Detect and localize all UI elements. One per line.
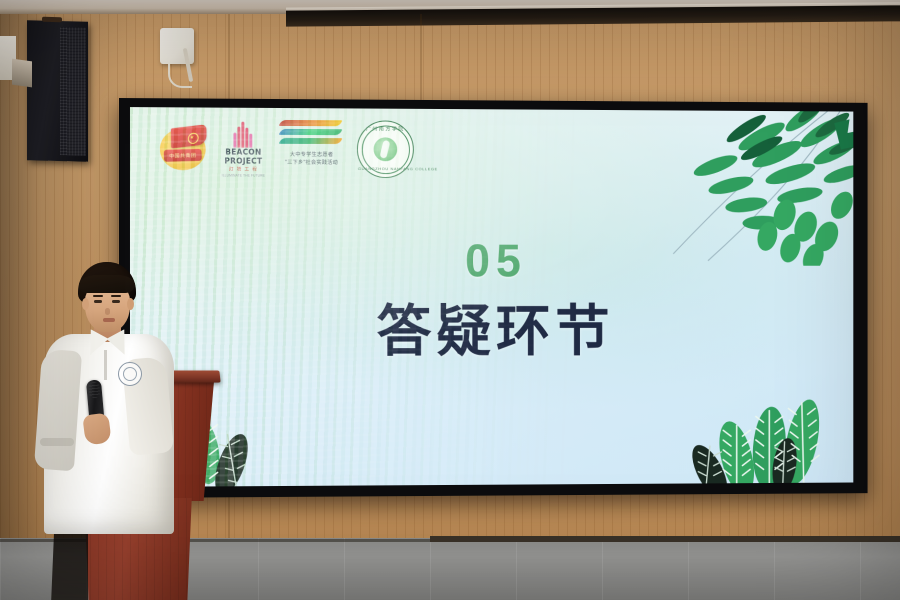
presenter-ear-left [82, 298, 89, 310]
presenter-fringe [79, 275, 135, 293]
cyl-star-icon [188, 132, 199, 144]
slide-section-number: 05 [130, 233, 853, 287]
presenter-eye-right [112, 300, 120, 303]
presenter-eyebrow-right [111, 295, 121, 297]
wall-seam [420, 14, 422, 100]
presenter-nose [105, 308, 110, 315]
seal-top-text: 广州南方学院 [358, 125, 413, 132]
presenter-eyebrow-left [93, 295, 103, 297]
presenter-mouth [103, 318, 115, 322]
baseboard [430, 536, 900, 542]
student-presenter [30, 262, 180, 600]
speaker-mount-top [42, 17, 62, 23]
speaker-bracket [12, 59, 32, 88]
beacon-title-2: PROJECT [224, 157, 262, 165]
presenter-eye-left [94, 300, 102, 303]
beacon-title: BEACON [225, 149, 261, 157]
presenter-ear-right [127, 298, 134, 310]
ribbon-icon [280, 120, 343, 150]
beacon-subtitle-cn: 灯 塔 工 程 [229, 166, 258, 172]
cyl-banner-text: 中国共青团 [169, 151, 197, 159]
university-seal-logo: 广州南方学院 GUANGZHOU NANFANG COLLEGE [357, 120, 414, 178]
projection-screen-frame: 中国共青团 BEACON PROJECT 灯 塔 工 程 ILLUMINATE … [119, 98, 868, 498]
seal-bottom-text: GUANGZHOU NANFANG COLLEGE [358, 166, 413, 171]
projection-screen: 中国共青团 BEACON PROJECT 灯 塔 工 程 ILLUMINATE … [130, 107, 853, 487]
cyl-banner: 中国共青团 [164, 149, 202, 162]
leaf-cluster-bottom-right [681, 381, 844, 487]
slide-section-title: 答疑环节 [130, 287, 853, 368]
lecture-hall-photo: 中国共青团 BEACON PROJECT 灯 塔 工 程 ILLUMINATE … [0, 0, 900, 600]
sanxiaxiang-ribbon-logo: 大中专学生志愿者 "三下乡"社会实践活动 [277, 120, 346, 178]
polo-placket [104, 350, 107, 380]
beacon-project-logo: BEACON PROJECT 灯 塔 工 程 ILLUMINATE THE FU… [221, 120, 267, 178]
seal-center-emblem [374, 137, 398, 161]
circular-school-crest [118, 362, 142, 386]
presenter-left-arm [34, 349, 82, 471]
speaker-grille [60, 27, 86, 156]
sxx-line-2: "三下乡"社会实践活动 [285, 160, 338, 166]
beacon-subtitle-small: ILLUMINATE THE FUTURE [222, 173, 265, 177]
communist-youth-league-emblem: 中国共青团 [158, 119, 210, 177]
ceiling-speaker [27, 20, 88, 162]
slide-logo-bar: 中国共青团 BEACON PROJECT 灯 塔 工 程 ILLUMINATE … [158, 117, 414, 180]
sleeve-hem [40, 438, 74, 446]
sxx-line-1: 大中专学生志愿者 [290, 152, 333, 158]
beacon-torch-icon [233, 120, 253, 148]
